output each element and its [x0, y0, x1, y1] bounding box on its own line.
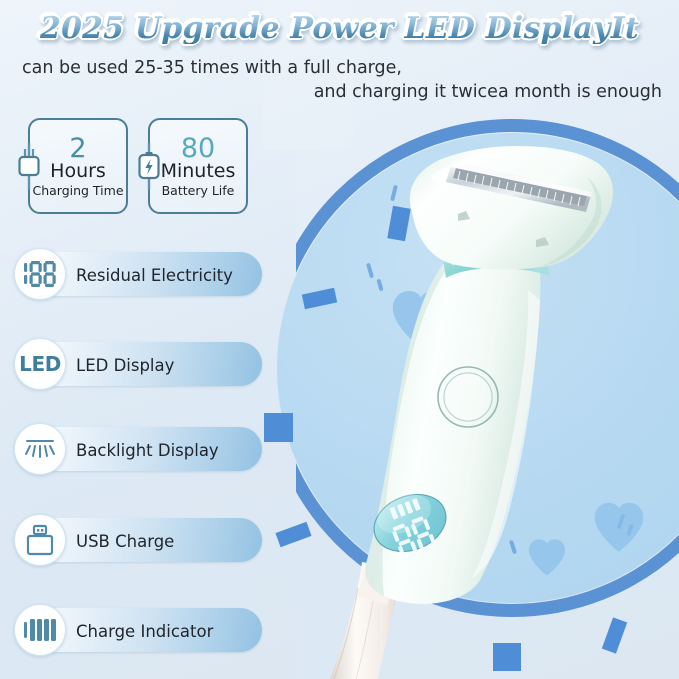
spec-unit: Minutes: [161, 162, 236, 181]
subheadline-line-2: and charging it twicea month is enough: [22, 81, 662, 103]
spec-label: Battery Life: [162, 183, 235, 199]
spec-card-charging-time: 2 Hours Charging Time: [28, 118, 128, 214]
feature-item-charge-indicator[interactable]: Charge Indicator: [8, 608, 262, 654]
spec-card-battery-life: 80 Minutes Battery Life: [148, 118, 248, 214]
page-headline: 2025 Upgrade Power LED DisplayIt: [0, 14, 679, 44]
product-image-electric-shaver: [300, 140, 679, 679]
feature-label: USB Charge: [76, 532, 174, 551]
backlight-rays-icon: [14, 423, 66, 475]
feature-item-backlight-display[interactable]: Backlight Display: [8, 427, 262, 473]
led-text-icon: LED: [14, 338, 66, 390]
seven-segment-100-icon: [14, 248, 66, 300]
infographic-canvas: 2025 Upgrade Power LED DisplayIt can be …: [0, 0, 679, 679]
decorative-square: [264, 413, 293, 442]
spec-value: 80: [181, 136, 215, 162]
feature-label: Backlight Display: [76, 441, 219, 460]
feature-label: LED Display: [76, 356, 174, 375]
spec-label: Charging Time: [32, 183, 123, 199]
battery-charging-icon: [136, 143, 162, 189]
feature-label: Charge Indicator: [76, 622, 213, 641]
usb-connector-icon: [14, 514, 66, 566]
feature-item-led-display[interactable]: LED LED Display: [8, 342, 262, 388]
spec-value: 2: [69, 136, 86, 162]
feature-item-usb-charge[interactable]: USB Charge: [8, 518, 262, 564]
power-button: [438, 367, 498, 427]
feature-label: Residual Electricity: [76, 266, 233, 285]
plug-icon: [16, 143, 42, 189]
shaver-body: [365, 256, 540, 604]
spec-unit: Hours: [50, 162, 106, 181]
led-icon-label: LED: [19, 352, 61, 376]
battery-bars-icon: [14, 604, 66, 656]
subheadline-line-1: can be used 25-35 times with a full char…: [22, 57, 662, 79]
feature-item-residual-electricity[interactable]: Residual Electricity: [8, 252, 262, 298]
